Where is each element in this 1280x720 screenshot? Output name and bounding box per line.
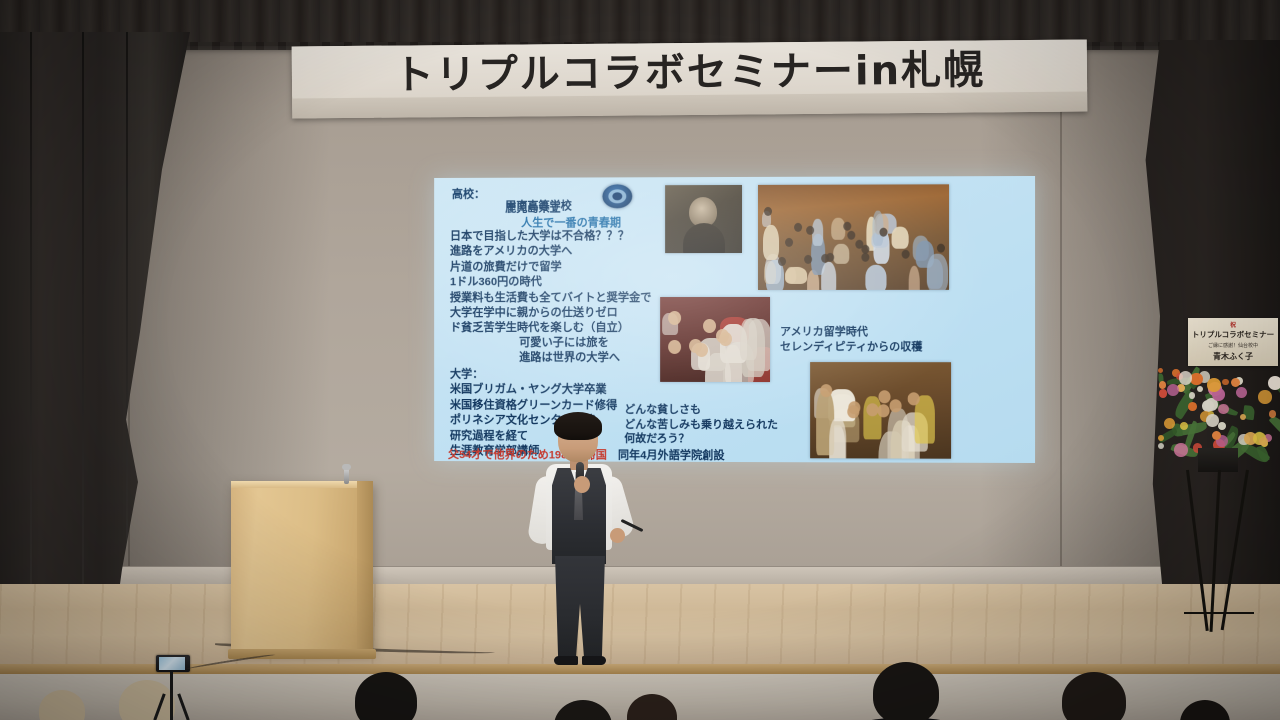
slide-body-line: 1ドル360円の時代	[450, 275, 652, 291]
photo-head	[794, 223, 802, 232]
slide-body-line: 授業料も生活費も全てバイトと奨学金で	[450, 291, 652, 306]
bouquet-flower	[1218, 422, 1226, 430]
photo-head	[848, 230, 856, 239]
bouquet-flower	[1174, 443, 1188, 457]
slide-caption-line: アメリカ留学時代	[780, 325, 922, 340]
photo-figure	[927, 254, 948, 290]
slide-indent-line: 可愛い子には旅を	[519, 336, 620, 351]
presenter-shoe-left	[554, 656, 578, 665]
slide-caption-line: 何故だろう？	[624, 432, 778, 447]
slide-school-line2: 甲南高等学校	[505, 199, 572, 213]
bouquet-flower	[1268, 376, 1280, 390]
podium-side-panel	[357, 481, 373, 653]
slide-header-label: 高校：	[452, 186, 485, 202]
stand-crossbar	[1184, 612, 1254, 614]
smartphone-icon	[156, 655, 190, 672]
presenter-shoe-right	[582, 656, 606, 665]
photo-head	[861, 252, 869, 261]
phone-screen	[159, 657, 185, 670]
photo-head	[764, 207, 772, 216]
bouquet-flower	[1207, 378, 1221, 392]
photo-head	[901, 249, 909, 258]
smartphone-on-tripod	[148, 655, 194, 720]
slide-indent-line: 進路は世界の大学へ	[519, 351, 620, 366]
photo-figure	[763, 225, 779, 260]
photo-figure	[786, 267, 796, 283]
photo-figure	[863, 396, 882, 440]
flower-card-title: トリプルコラボセミナー	[1192, 329, 1274, 340]
presenter	[524, 416, 644, 668]
audience-member	[1150, 700, 1260, 720]
wooden-podium	[231, 481, 373, 653]
seminar-stage-scene: トリプルコラボセミナーin札幌 高校： 鹿児島県立 甲南高等学校 人生で一番の青…	[0, 0, 1280, 720]
photo-head	[778, 257, 786, 266]
bouquet-flower	[1259, 437, 1268, 446]
tripod-leg	[177, 693, 189, 720]
presenter-hand-right	[610, 528, 625, 543]
slide-body-line: 片道の旅費だけで留学	[450, 260, 652, 276]
photo-head	[866, 404, 878, 417]
bouquet-flower	[1231, 378, 1240, 387]
audience-head	[873, 662, 939, 720]
bouquet-flower	[1159, 381, 1166, 388]
slide-indent-lines: 可愛い子には旅を 進路は世界の大学へ	[519, 336, 620, 367]
bouquet-flower	[1167, 384, 1180, 397]
bouquet-flower	[1158, 368, 1163, 373]
slide-caption-middle: どんな貧しさも どんな苦しみも乗り越えられた 何故だろう？	[624, 403, 778, 447]
slide-section2-line: 大学：	[450, 368, 617, 384]
presenter-trousers	[554, 556, 606, 660]
photo-head	[785, 238, 793, 247]
audience-head	[1180, 700, 1230, 720]
slide-caption-line: どんな苦しみも乗り越えられた	[624, 417, 778, 432]
photo-head	[804, 254, 812, 263]
audience-head	[1062, 672, 1126, 720]
slide-accent-line: 人生で一番の青春期	[521, 214, 621, 230]
polynesia-group-photo	[810, 362, 951, 459]
tripod-leg	[170, 693, 173, 720]
bouquet-flower	[1222, 379, 1228, 385]
slide-body-line: 進路をアメリカの大学へ	[450, 245, 652, 261]
bouquet-flower	[1236, 387, 1247, 398]
audience-member	[600, 694, 704, 720]
photo-head	[843, 221, 851, 230]
flower-card-top-mark: 祝	[1230, 320, 1236, 329]
bouquet-flower	[1240, 414, 1246, 420]
photo-figure	[891, 226, 908, 248]
photo-head	[820, 384, 832, 397]
slide-section2-line: 米国移住資格グリーンカード修得	[450, 398, 617, 414]
bouquet-flower	[1188, 402, 1197, 411]
portrait-young-man-photo	[665, 185, 742, 253]
group-friends-photo	[660, 297, 770, 382]
slide-section2-line: 米国ブリガム・ヤング大学卒業	[450, 383, 617, 399]
tripod-leg	[153, 693, 165, 720]
congratulatory-flower-stand: 祝 トリプルコラボセミナー ご縁に感謝！仙台校中 青木ふく子	[1152, 300, 1280, 650]
group-outdoor-photo	[758, 184, 949, 290]
stand-leg	[1221, 470, 1249, 630]
photo-figure	[865, 265, 887, 290]
audience-head	[39, 690, 85, 720]
photo-head	[907, 392, 919, 405]
photo-figure	[834, 243, 850, 263]
photo-head	[668, 340, 681, 354]
podium-microphone-icon	[344, 468, 349, 484]
flower-stand-legs	[1182, 470, 1256, 638]
presenter-hair	[554, 412, 602, 440]
bouquet-flower	[1189, 392, 1195, 398]
photo-head	[937, 243, 945, 252]
bouquet-flower	[1269, 410, 1276, 417]
bouquet-flower	[1159, 389, 1167, 397]
audience-member	[1026, 672, 1162, 720]
photo-head	[668, 311, 681, 325]
flower-card-subtitle: ご縁に感謝！仙台校中	[1208, 342, 1258, 349]
stand-leg	[1186, 470, 1209, 631]
photo-head	[855, 240, 863, 249]
photo-head	[889, 400, 901, 413]
slide-body-line: ド貧乏苦学生時代を楽しむ（自立）	[450, 321, 652, 336]
slide-body-line: 大学在学中に親からの仕送りゼロ	[450, 306, 652, 321]
slide-caption-line: セレンディピティからの収穫	[780, 340, 922, 355]
presenter-hand-left	[574, 476, 590, 493]
photo-figure	[908, 266, 920, 290]
school-crest-icon	[602, 184, 632, 208]
audience-head	[355, 672, 417, 720]
bouquet-flower	[1158, 435, 1164, 441]
slide-body-lines: 日本で目指した大学は不合格？？？ 進路をアメリカの大学へ 片道の旅費だけで留学 …	[450, 229, 652, 337]
stand-leg	[1210, 470, 1221, 632]
photo-head	[879, 390, 891, 403]
photo-figure	[740, 319, 757, 360]
photo-head	[703, 319, 716, 333]
bouquet-flower	[1180, 422, 1188, 430]
flower-pot	[1198, 448, 1238, 472]
bouquet-flower	[1197, 386, 1203, 392]
slide-caption-line: どんな貧しさも	[624, 403, 778, 418]
bouquet-flower	[1158, 443, 1164, 449]
event-banner: トリプルコラボセミナーin札幌	[292, 40, 1088, 119]
bouquet-flower	[1258, 390, 1271, 403]
photo-head	[877, 404, 889, 417]
slide-body-line: 日本で目指した大学は不合格？？？	[450, 229, 652, 245]
podium-top-edge	[231, 481, 373, 488]
slide-caption-right: アメリカ留学時代 セレンディピティからの収穫	[780, 325, 922, 355]
banner-title-text: トリプルコラボセミナーin札幌	[292, 38, 1087, 101]
audience-member	[320, 672, 452, 720]
bouquet-flower	[1218, 404, 1228, 414]
audience-head	[627, 694, 677, 720]
photo-head	[689, 339, 702, 353]
audience-member	[836, 662, 976, 720]
photo-figure	[821, 262, 836, 290]
top-valance-curtain	[0, 0, 1280, 46]
tripod-stem	[170, 672, 173, 694]
